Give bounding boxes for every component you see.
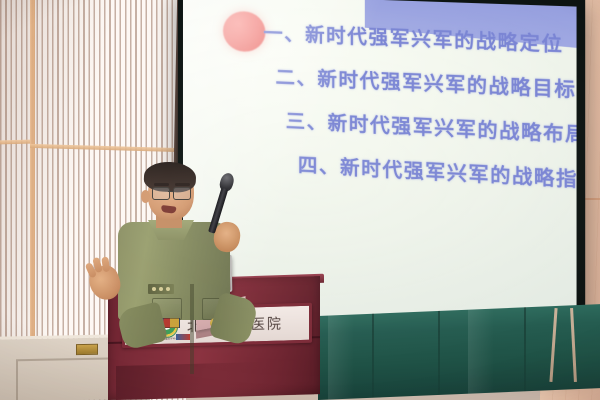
podium-base (116, 361, 312, 400)
name-badge (176, 334, 190, 340)
eyeglass-bridge (168, 191, 174, 192)
skirt-fold-1 (372, 314, 374, 398)
brass-plate-icon (76, 344, 98, 355)
speaker-ear (141, 190, 150, 203)
slide-line-3: 三、新时代强军兴军的战略布局 (286, 106, 564, 147)
slide-outline-list: 一、新时代强军兴军的战略定位 二、新时代强军兴军的战略目标 三、新时代强军兴军的… (253, 18, 563, 192)
rank-star-2 (159, 287, 163, 291)
chair-leg-1 (549, 308, 557, 382)
finger-3 (101, 256, 110, 272)
eyeglasses-icon (152, 187, 192, 198)
photo-scene: 一、新时代强军兴军的战略定位 二、新时代强军兴军的战略目标 三、新时代强军兴军的… (0, 0, 600, 400)
speaker-figure (96, 166, 256, 316)
rank-insignia (148, 284, 174, 294)
slide-line-2: 二、新时代强军兴军的战略目标 (276, 62, 564, 102)
slide-line-4: 四、新时代强军兴军的战略指导 (298, 150, 564, 191)
speaker-brow-left (175, 183, 190, 186)
eyeglass-lens-right (152, 187, 170, 200)
chair-legs (546, 308, 596, 382)
speaker-mouth (161, 205, 177, 214)
rank-star-3 (166, 287, 170, 291)
skirt-highlight-1 (328, 314, 354, 399)
uniform-placket (190, 284, 194, 374)
chair-leg-2 (570, 308, 577, 382)
skirt-fold-3 (524, 307, 526, 391)
skirt-fold-2 (438, 311, 440, 395)
skirt-highlight-2 (468, 309, 494, 394)
wall-trim-horizontal-left (0, 140, 30, 145)
rank-star-1 (152, 287, 156, 291)
eyeglass-lens-left (173, 187, 191, 200)
speaker-brow-right (154, 183, 169, 186)
